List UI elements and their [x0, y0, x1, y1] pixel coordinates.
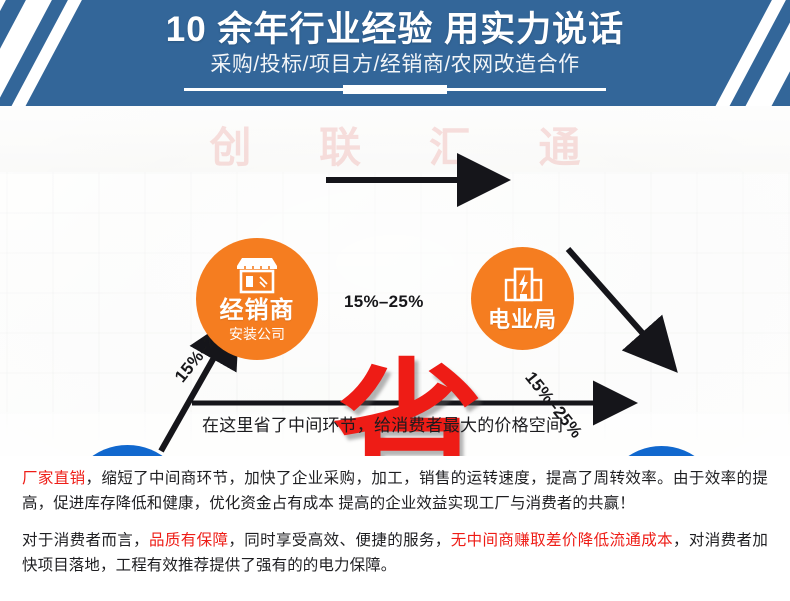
body-text: ，同时享受高效、便捷的服务，: [228, 532, 450, 549]
footer-description: 厂家直销，缩短了中间商环节，加快了企业采购，加工，销售的运转速度，提高了周转效率…: [0, 456, 790, 601]
storefront-icon: [234, 256, 280, 294]
banner-divider: [184, 84, 606, 94]
highlighted-text: 无中间商赚取差价降低流通成本: [451, 532, 673, 549]
body-text: ，缩短了中间商环节，加快了企业采购，加工，销售的运转速度，提高了周转效率。由于效…: [22, 470, 768, 512]
brand-watermark: 创 联 汇 通: [0, 114, 790, 175]
header-banner: 10 余年行业经验 用实力说话 采购/投标/项目方/经销商/农网改造合作: [0, 0, 790, 106]
node-dealer-title: 经销商: [220, 297, 295, 324]
banner-subline: 采购/投标/项目方/经销商/农网改造合作: [210, 51, 579, 79]
infographic-page: 10 余年行业经验 用实力说话 采购/投标/项目方/经销商/农网改造合作 创 联…: [0, 0, 790, 601]
banner-divider-center: [343, 85, 447, 94]
node-dealer-subtitle: 安装公司: [229, 325, 285, 343]
node-dealer[interactable]: 经销商 安装公司: [196, 238, 318, 360]
save-character: 省: [333, 358, 483, 456]
highlighted-text: 厂家直销: [22, 470, 86, 487]
node-power-bureau[interactable]: 电业局: [471, 247, 574, 350]
flow-bottom-caption: 在这里省了中间环节，给消费者最大的价格空间: [202, 411, 602, 436]
banner-headline: 10 余年行业经验 用实力说话: [166, 8, 624, 52]
footer-paragraph-1: 厂家直销，缩短了中间商环节，加快了企业采购，加工，销售的运转速度，提高了周转效率…: [22, 466, 768, 516]
body-text: 对于消费者而言，: [22, 532, 149, 549]
arrow-label-dealer-to-bureau: 15%–25%: [344, 292, 424, 312]
banner-content: 10 余年行业经验 用实力说话 采购/投标/项目方/经销商/农网改造合作: [0, 0, 790, 106]
highlighted-text: 品质有保障: [149, 532, 228, 549]
footer-paragraph-2: 对于消费者而言，品质有保障，同时享受高效、便捷的服务，无中间商赚取差价降低流通成…: [22, 528, 768, 578]
power-building-icon: [502, 266, 544, 304]
diagram-stage: 创 联 汇 通 15%–25% 15%–25% 15%–25% 省 在这里省了中…: [0, 106, 790, 456]
node-power-bureau-title: 电业局: [488, 307, 557, 332]
